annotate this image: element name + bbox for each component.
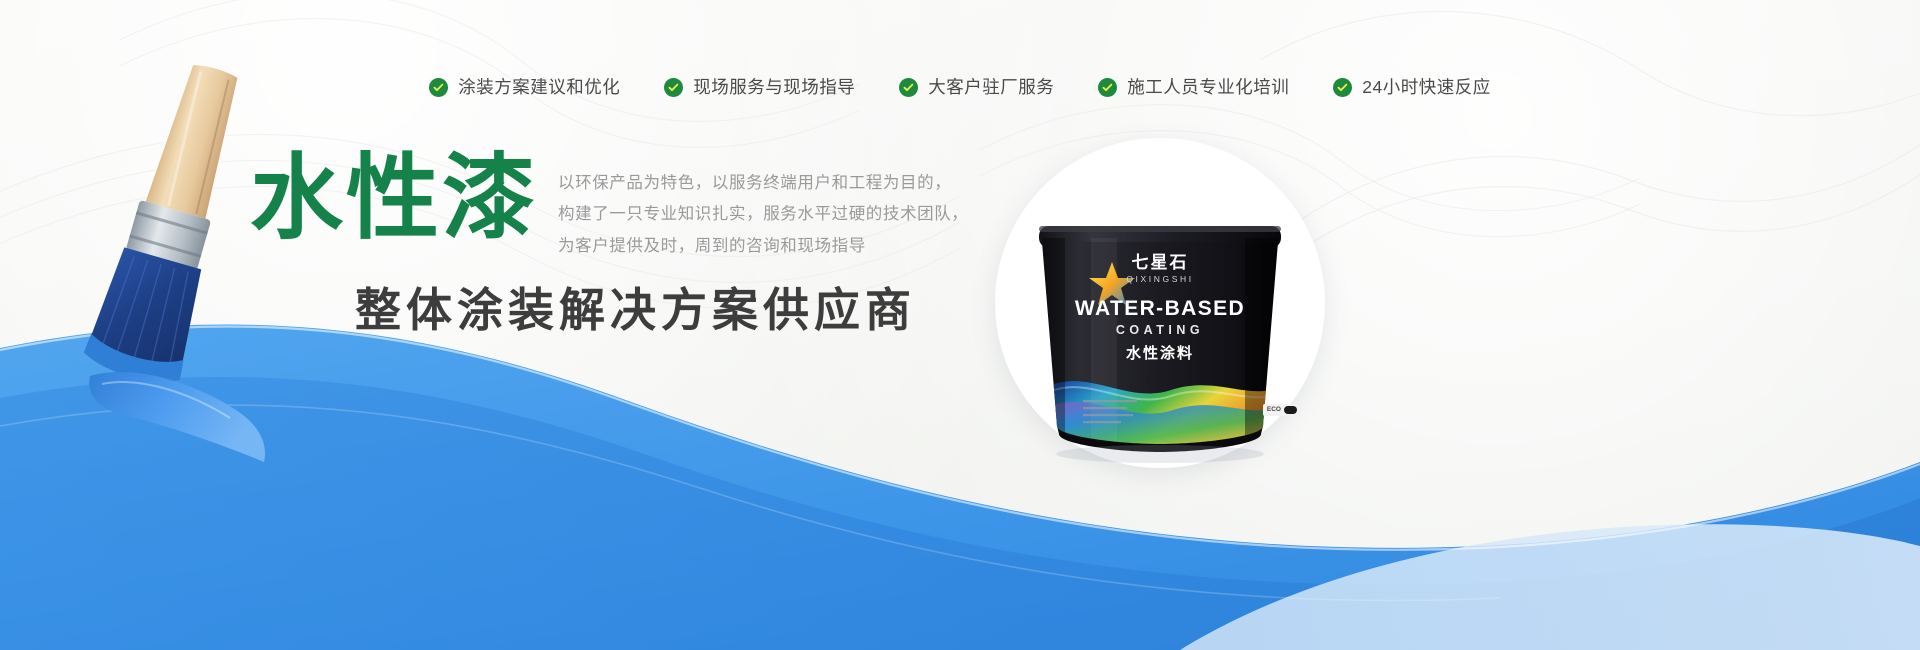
feature-label: 大客户驻厂服务 xyxy=(928,79,1054,97)
feature-item-2[interactable]: 大客户驻厂服务 xyxy=(899,78,1054,97)
headline-row: 水性漆 以环保产品为特色，以服务终端用户和工程为目的， 构建了一只专业知识扎实，… xyxy=(250,152,968,257)
feature-label: 施工人员专业化培训 xyxy=(1127,79,1289,97)
feature-list: 涂装方案建议和优化 现场服务与现场指导 大客户驻厂服务 施工人员专业化培训 24 xyxy=(0,78,1920,97)
page-title: 水性漆 xyxy=(250,152,538,245)
check-circle-icon xyxy=(1333,78,1352,97)
lead-line: 构建了一只专业知识扎实，服务水平过硬的技术团队， xyxy=(558,203,968,225)
check-circle-icon xyxy=(899,78,918,97)
check-circle-icon xyxy=(664,78,683,97)
check-circle-icon xyxy=(1098,78,1117,97)
feature-item-1[interactable]: 现场服务与现场指导 xyxy=(664,78,855,97)
paint-bucket-image xyxy=(995,138,1325,468)
lead-line: 为客户提供及时，周到的咨询和现场指导 xyxy=(558,235,968,257)
feature-item-3[interactable]: 施工人员专业化培训 xyxy=(1098,78,1289,97)
feature-label: 现场服务与现场指导 xyxy=(693,79,855,97)
product-showcase[interactable]: 七星石 QIXINGSHI WATER-BASED COATING 水性涂料 E… xyxy=(995,138,1325,468)
eco-label: ECO xyxy=(1267,407,1281,414)
subheadline: 整体涂装解决方案供应商 xyxy=(355,287,916,333)
feature-label: 涂装方案建议和优化 xyxy=(458,79,620,97)
eco-dot-icon xyxy=(1284,406,1297,414)
promo-banner: 涂装方案建议和优化 现场服务与现场指导 大客户驻厂服务 施工人员专业化培训 24 xyxy=(0,0,1920,650)
blue-wave-shape xyxy=(0,230,1920,650)
check-circle-icon xyxy=(429,78,448,97)
eco-badge: ECO xyxy=(1263,404,1301,416)
feature-item-4[interactable]: 24小时快速反应 xyxy=(1333,78,1490,97)
feature-item-0[interactable]: 涂装方案建议和优化 xyxy=(429,78,620,97)
lead-paragraph: 以环保产品为特色，以服务终端用户和工程为目的， 构建了一只专业知识扎实，服务水平… xyxy=(558,152,968,257)
feature-label: 24小时快速反应 xyxy=(1362,79,1490,97)
lead-line: 以环保产品为特色，以服务终端用户和工程为目的， xyxy=(558,172,968,194)
paintbrush-icon xyxy=(50,58,270,478)
